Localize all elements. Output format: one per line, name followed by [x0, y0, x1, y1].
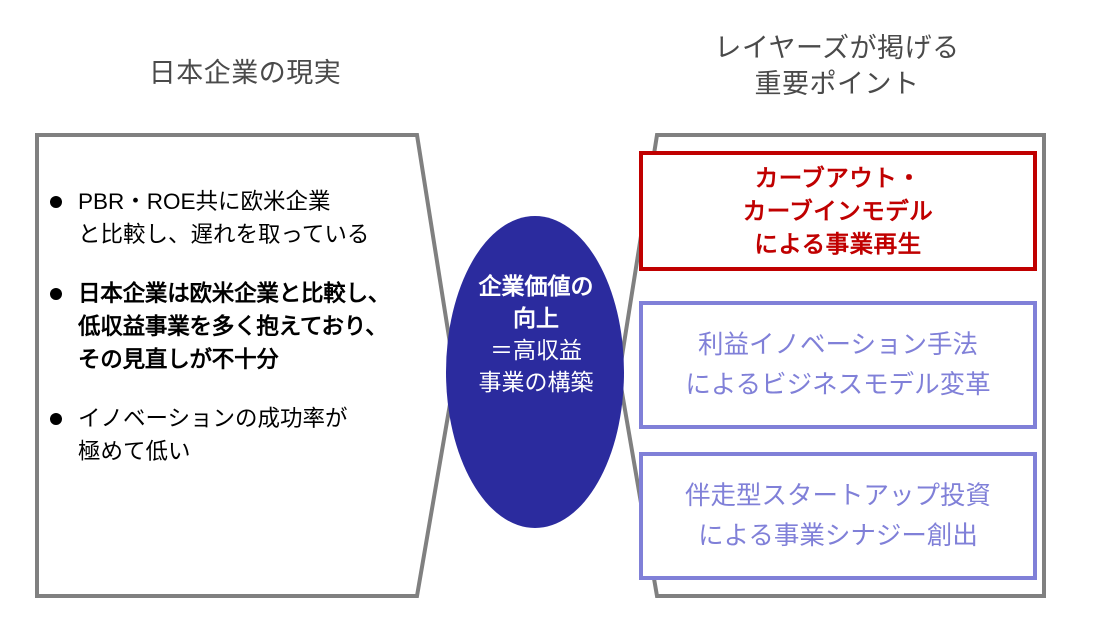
list-item-line: 低収益事業を多く抱えており、	[78, 310, 448, 343]
key-point-line: によるビジネスモデル変革	[685, 365, 990, 405]
key-point-line: による事業シナジー創出	[685, 516, 991, 556]
list-item-line: と比較し、遅れを取っている	[78, 218, 448, 251]
list-item-line: PBR・ROE共に欧米企業	[78, 185, 448, 218]
left-panel-title: 日本企業の現実	[35, 55, 455, 91]
diagram-canvas: 日本企業の現実 レイヤーズが掲げる 重要ポイント PBR・ROE共に欧米企業 と…	[0, 0, 1110, 630]
list-item-line: 極めて低い	[78, 435, 448, 468]
key-point-box-startup-investment[interactable]: 伴走型スタートアップ投資 による事業シナジー創出	[639, 452, 1037, 580]
key-point-box-profit-innovation-text: 利益イノベーション手法 によるビジネスモデル変革	[685, 325, 990, 405]
key-point-box-carveout-text: カーブアウト・ カーブインモデル による事業再生	[743, 162, 934, 261]
key-point-line: カーブアウト・	[743, 162, 934, 195]
list-item: 日本企業は欧米企業と比較し、 低収益事業を多く抱えており、 その見直しが不十分	[48, 277, 448, 376]
right-panel-title-line-1: レイヤーズが掲げる	[628, 30, 1046, 66]
key-point-box-startup-investment-text: 伴走型スタートアップ投資 による事業シナジー創出	[685, 476, 991, 556]
left-panel-title-line: 日本企業の現実	[35, 55, 455, 91]
list-item-line: その見直しが不十分	[78, 343, 448, 376]
list-item: イノベーションの成功率が 極めて低い	[48, 402, 448, 468]
right-panel-title-line-2: 重要ポイント	[628, 66, 1046, 102]
key-point-line: 伴走型スタートアップ投資	[685, 476, 991, 516]
key-point-box-profit-innovation[interactable]: 利益イノベーション手法 によるビジネスモデル変革	[639, 301, 1037, 429]
right-panel-title: レイヤーズが掲げる 重要ポイント	[628, 30, 1046, 102]
value-ellipse-shape	[446, 216, 624, 528]
key-point-line: による事業再生	[743, 228, 934, 261]
bullet-dot-icon	[50, 196, 62, 208]
key-point-line: カーブインモデル	[743, 195, 934, 228]
bullet-dot-icon	[50, 413, 62, 425]
list-item: PBR・ROE共に欧米企業 と比較し、遅れを取っている	[48, 185, 448, 251]
key-point-line: 利益イノベーション手法	[685, 325, 990, 365]
bullet-dot-icon	[50, 288, 62, 300]
list-item-line: イノベーションの成功率が	[78, 402, 448, 435]
list-item-line: 日本企業は欧米企業と比較し、	[78, 277, 448, 310]
key-point-box-carveout[interactable]: カーブアウト・ カーブインモデル による事業再生	[639, 151, 1037, 271]
japanese-corporate-reality-list: PBR・ROE共に欧米企業 と比較し、遅れを取っている 日本企業は欧米企業と比較…	[48, 185, 448, 494]
